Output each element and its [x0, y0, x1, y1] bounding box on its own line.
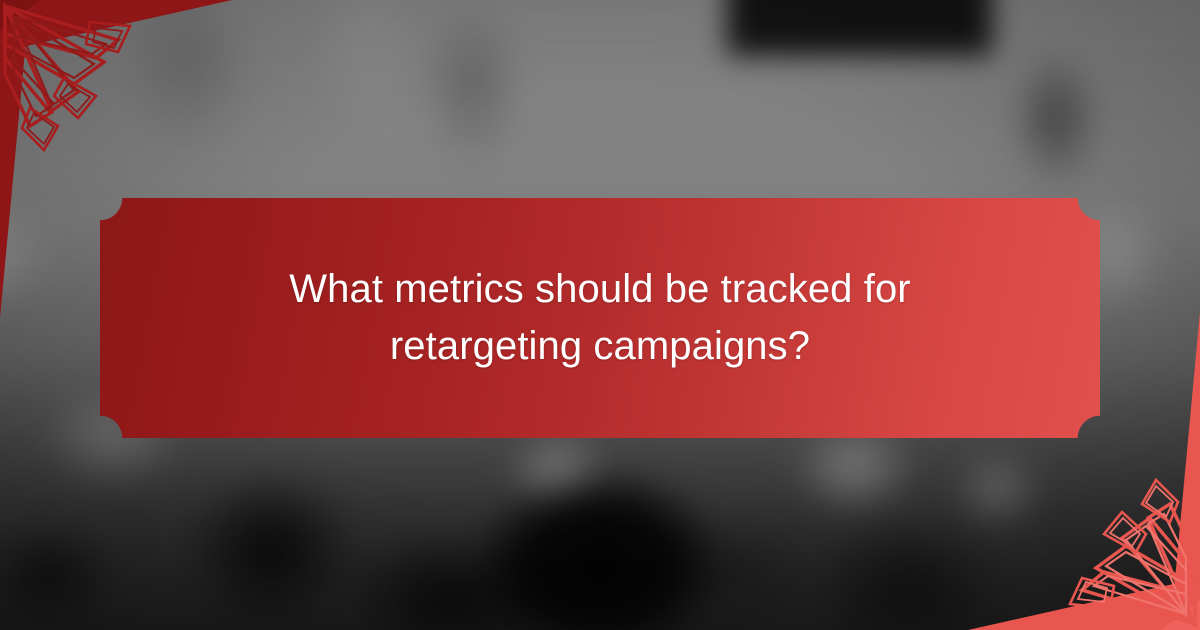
- quote-card: What metrics should be tracked for retar…: [0, 0, 1200, 630]
- headline-banner: What metrics should be tracked for retar…: [100, 198, 1100, 438]
- headline-text: What metrics should be tracked for retar…: [260, 261, 940, 375]
